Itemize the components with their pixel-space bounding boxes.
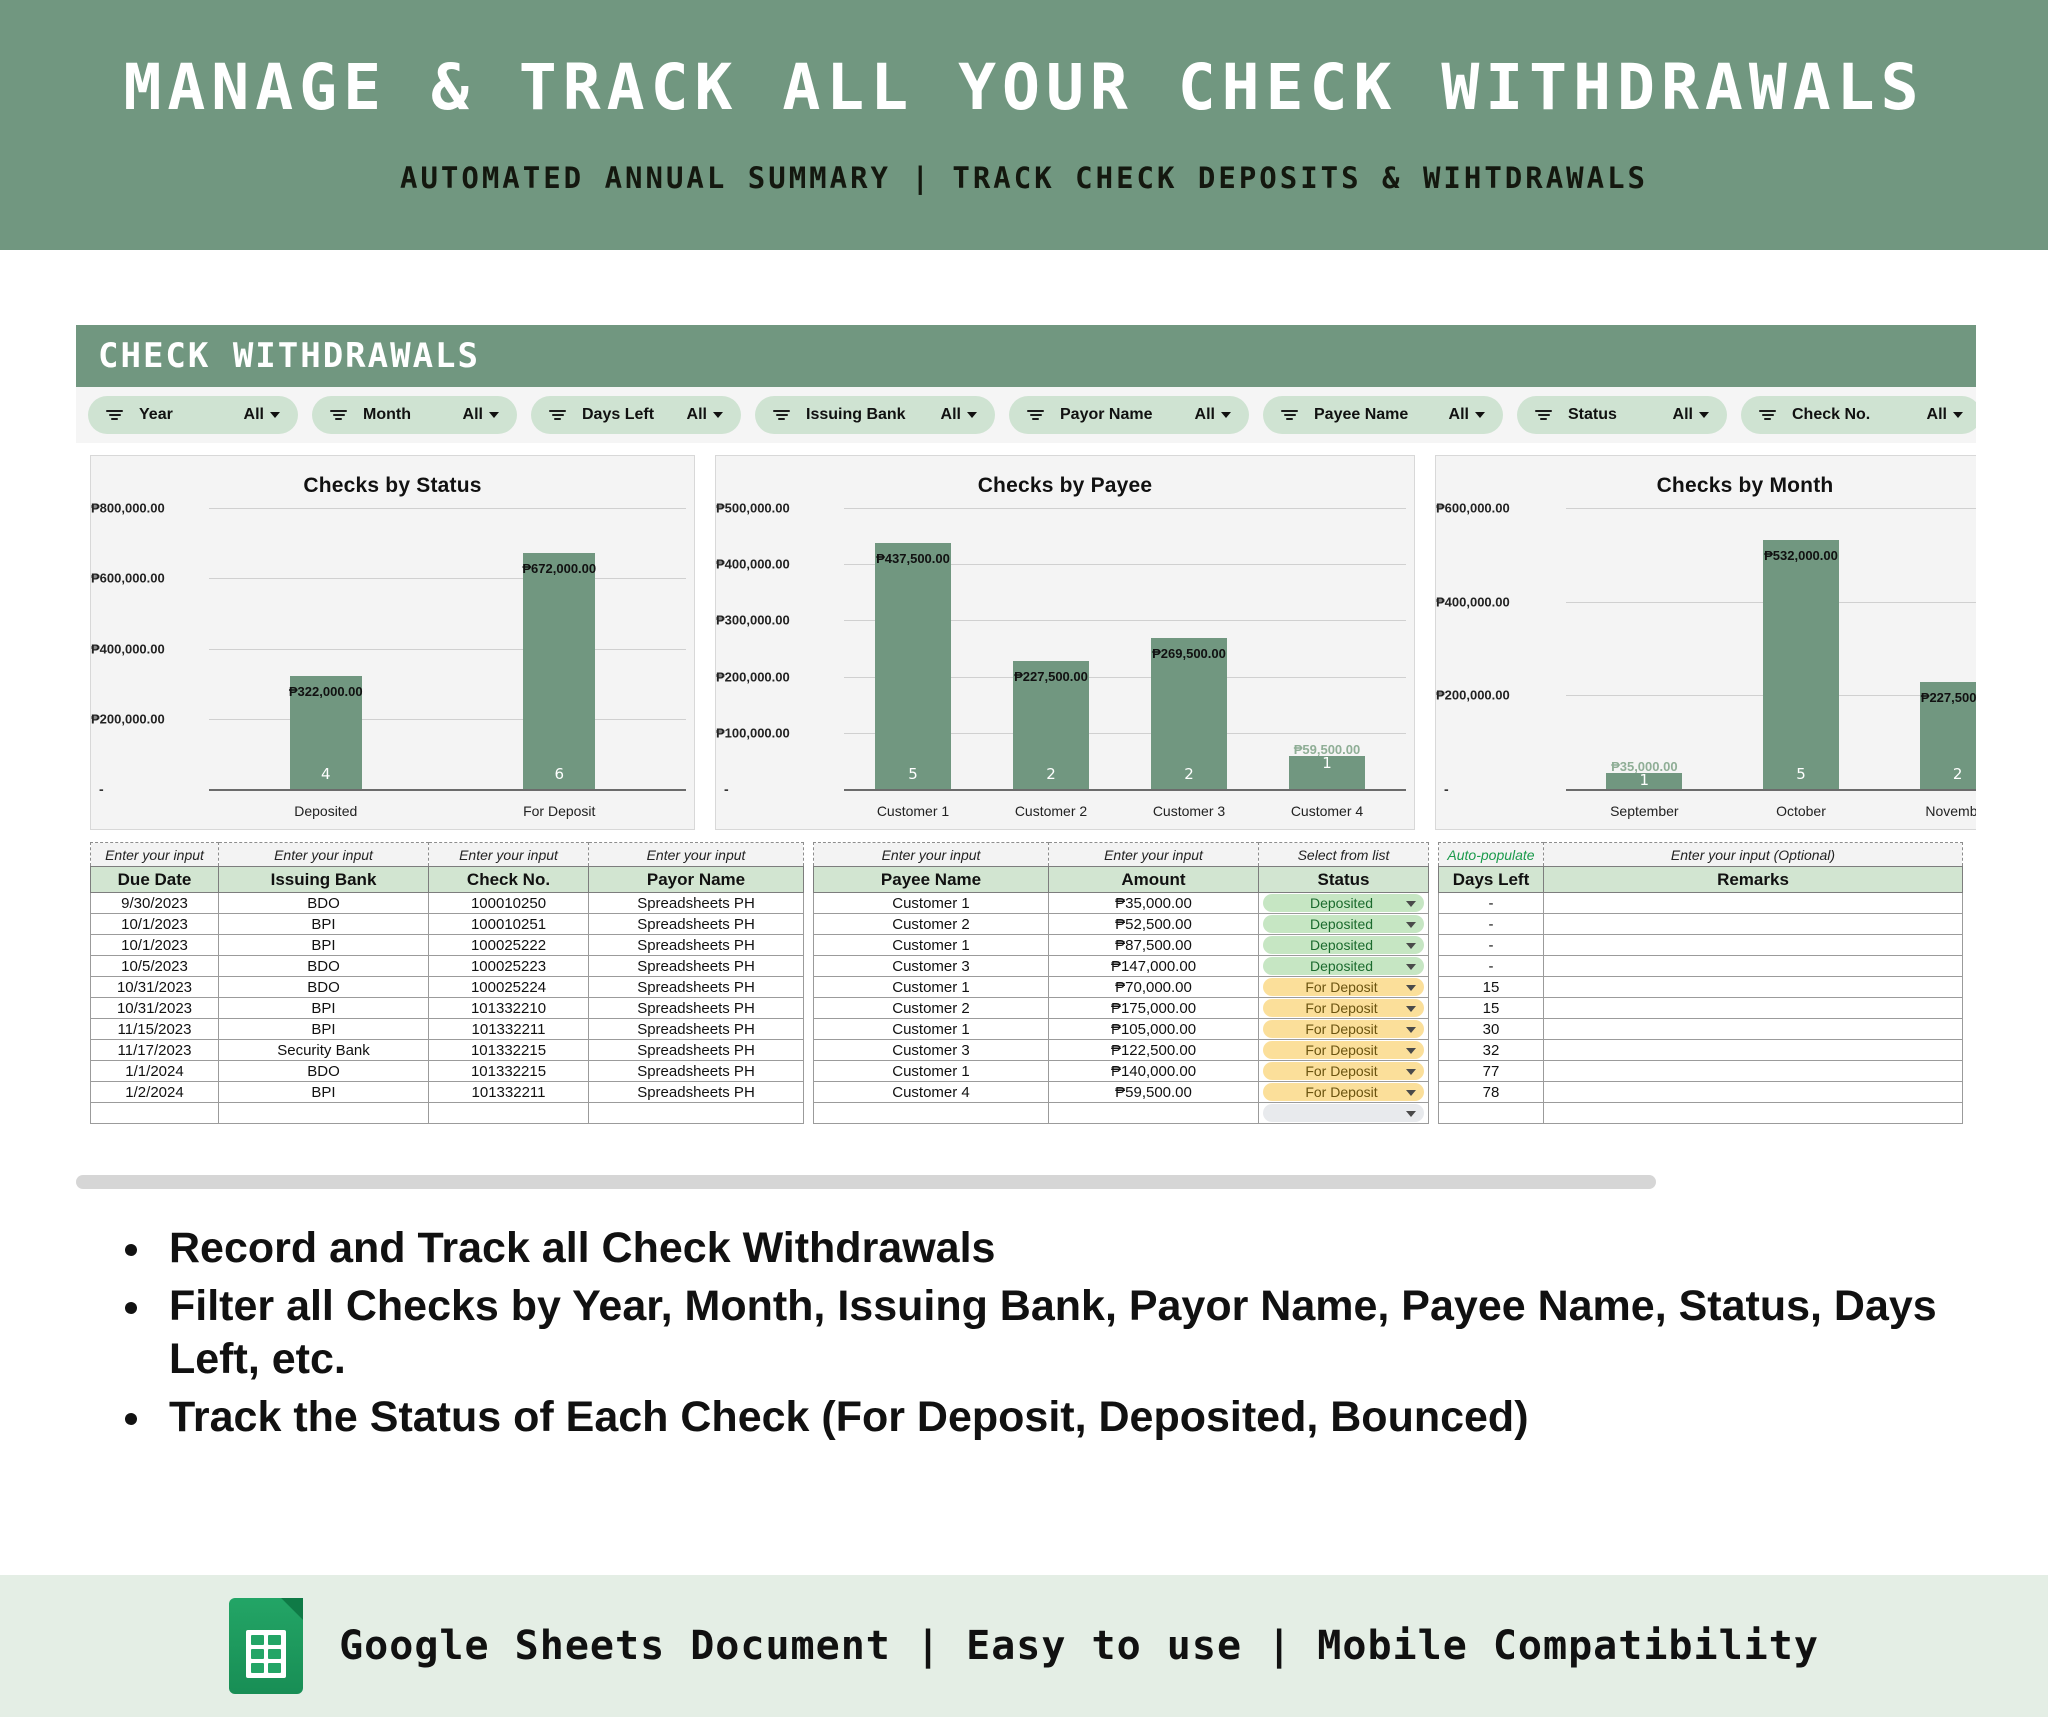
status-cell[interactable]: Deposited: [1259, 893, 1429, 914]
check-no-cell[interactable]: 100010251: [429, 914, 589, 935]
gridline: [1566, 508, 1976, 509]
table-row[interactable]: 10/31/2023BDO100025224Spreadsheets PHCus…: [91, 977, 1963, 998]
status-badge[interactable]: Deposited: [1263, 915, 1424, 933]
hint-days-left: Auto-populate: [1439, 843, 1544, 867]
due-date-cell[interactable]: 10/1/2023: [91, 914, 219, 935]
col-header-bank: Issuing Bank: [219, 867, 429, 893]
filter-value-payee-name[interactable]: All: [1449, 406, 1485, 424]
filter-icon: [1535, 410, 1552, 421]
status-badge[interactable]: [1263, 1104, 1424, 1122]
chevron-down-icon[interactable]: [1406, 901, 1416, 907]
filter-icon: [106, 410, 123, 421]
chart-checks-by-payee[interactable]: Checks by Payee ₱500,000.00₱400,000.00₱3…: [715, 455, 1415, 830]
issuing-bank-cell[interactable]: BDO: [219, 893, 429, 914]
chevron-down-icon[interactable]: [1406, 964, 1416, 970]
amount-cell[interactable]: ₱105,000.00: [1049, 1019, 1259, 1040]
chevron-down-icon[interactable]: [1406, 1090, 1416, 1096]
gridline: [844, 508, 1406, 509]
chevron-down-icon: [1221, 412, 1231, 418]
spacer-cell-2: [1429, 1061, 1439, 1082]
spreadsheet-card: CHECK WITHDRAWALS Year All Month All Day…: [76, 325, 1976, 1185]
issuing-bank-cell[interactable]: Security Bank: [219, 1040, 429, 1061]
issuing-bank-cell[interactable]: BPI: [219, 1082, 429, 1103]
payee-name-cell[interactable]: Customer 3: [814, 956, 1049, 977]
axis-baseline: [209, 789, 686, 791]
amount-cell[interactable]: ₱59,500.00: [1049, 1082, 1259, 1103]
payor-name-cell[interactable]: Spreadsheets PH: [589, 893, 804, 914]
bullet-dot-icon: [125, 1244, 137, 1256]
hint-payee: Enter your input: [814, 843, 1049, 867]
bar-value-label: ₱437,500.00: [876, 551, 950, 566]
filter-label-year: Year: [139, 406, 173, 424]
y-axis-tick: ₱600,000.00: [1436, 501, 1510, 516]
payor-name-cell[interactable]: Spreadsheets PH: [589, 956, 804, 977]
promo-title: MANAGE & TRACK ALL YOUR CHECK WITHDRAWAL…: [123, 56, 1924, 119]
filter-icon: [1281, 410, 1298, 421]
days-left-cell[interactable]: 15: [1439, 998, 1544, 1019]
spacer-cell: [804, 1103, 814, 1124]
filter-value-month[interactable]: All: [463, 406, 499, 424]
remarks-cell[interactable]: [1544, 935, 1963, 956]
y-axis-tick: -: [1444, 781, 1449, 797]
filter-value-text-year: All: [244, 406, 264, 424]
payor-name-cell[interactable]: Spreadsheets PH: [589, 1019, 804, 1040]
filter-chip-days-left[interactable]: Days Left All: [531, 396, 741, 434]
filter-label-check-no: Check No.: [1792, 406, 1870, 424]
filter-icon: [1027, 410, 1044, 421]
filter-value-issuing-bank[interactable]: All: [941, 406, 977, 424]
status-badge[interactable]: For Deposit: [1263, 1083, 1424, 1101]
table-row[interactable]: 10/1/2023BPI100025222Spreadsheets PHCust…: [91, 935, 1963, 956]
issuing-bank-cell[interactable]: BPI: [219, 935, 429, 956]
chart-title-status: Checks by Status: [91, 456, 694, 498]
filter-value-text-issuing-bank: All: [941, 406, 961, 424]
filter-chip-status[interactable]: Status All: [1517, 396, 1727, 434]
col-header-status: Status: [1259, 867, 1429, 893]
chevron-down-icon: [1953, 412, 1963, 418]
due-date-cell[interactable]: 10/31/2023: [91, 998, 219, 1019]
amount-cell[interactable]: [1049, 1103, 1259, 1124]
filter-chip-payee-name[interactable]: Payee Name All: [1263, 396, 1503, 434]
table-row[interactable]: 11/15/2023BPI101332211Spreadsheets PHCus…: [91, 1019, 1963, 1040]
issuing-bank-cell[interactable]: BDO: [219, 1061, 429, 1082]
remarks-cell[interactable]: [1544, 1019, 1963, 1040]
chevron-down-icon: [1475, 412, 1485, 418]
chevron-down-icon[interactable]: [1406, 985, 1416, 991]
chart-checks-by-status[interactable]: Checks by Status ₱800,000.00₱600,000.00₱…: [90, 455, 695, 830]
payor-name-cell[interactable]: Spreadsheets PH: [589, 1040, 804, 1061]
chart-plot-month: ₱600,000.00₱400,000.00₱200,000.00-₱35,00…: [1436, 508, 1976, 789]
bar-count-label: 2: [1184, 765, 1194, 783]
table-row[interactable]: 1/2/2024BPI101332211Spreadsheets PHCusto…: [91, 1082, 1963, 1103]
remarks-cell[interactable]: [1544, 1061, 1963, 1082]
filter-value-payor-name[interactable]: All: [1195, 406, 1231, 424]
days-left-cell[interactable]: -: [1439, 935, 1544, 956]
payor-name-cell[interactable]: Spreadsheets PH: [589, 1082, 804, 1103]
hint-payor: Enter your input: [589, 843, 804, 867]
remarks-cell[interactable]: [1544, 1082, 1963, 1103]
check-no-cell[interactable]: 100010250: [429, 893, 589, 914]
due-date-cell[interactable]: 1/2/2024: [91, 1082, 219, 1103]
y-axis-tick: ₱500,000.00: [716, 501, 790, 516]
filter-icon: [1759, 410, 1776, 421]
y-axis-tick: ₱200,000.00: [1436, 688, 1510, 703]
payor-name-cell[interactable]: Spreadsheets PH: [589, 998, 804, 1019]
chevron-down-icon[interactable]: [1406, 1048, 1416, 1054]
chart-checks-by-month[interactable]: Checks by Month ₱600,000.00₱400,000.00₱2…: [1435, 455, 1976, 830]
days-left-cell[interactable]: [1439, 1103, 1544, 1124]
x-axis-tick: November: [1879, 803, 1976, 819]
col-header-spacer: [804, 867, 814, 893]
status-cell[interactable]: For Deposit: [1259, 1061, 1429, 1082]
days-left-cell[interactable]: -: [1439, 914, 1544, 935]
spacer-cell: [804, 893, 814, 914]
days-left-cell[interactable]: 30: [1439, 1019, 1544, 1040]
table-row[interactable]: 11/17/2023Security Bank101332215Spreadsh…: [91, 1040, 1963, 1061]
payee-name-cell[interactable]: Customer 1: [814, 1019, 1049, 1040]
spacer-cell: [804, 914, 814, 935]
promo-banner: MANAGE & TRACK ALL YOUR CHECK WITHDRAWAL…: [0, 0, 2048, 250]
payee-name-cell[interactable]: Customer 2: [814, 914, 1049, 935]
due-date-cell[interactable]: [91, 1103, 219, 1124]
table-body: 9/30/2023BDO100010250Spreadsheets PHCust…: [91, 893, 1963, 1124]
promo-subtitle: AUTOMATED ANNUAL SUMMARY | TRACK CHECK D…: [400, 161, 1648, 195]
spacer-cell-2: [1429, 914, 1439, 935]
check-no-cell[interactable]: 101332211: [429, 1082, 589, 1103]
check-no-cell[interactable]: [429, 1103, 589, 1124]
remarks-cell[interactable]: [1544, 956, 1963, 977]
bar-count-label: 5: [908, 765, 918, 783]
data-table-wrap: Enter your input Enter your input Enter …: [76, 830, 1976, 1124]
remarks-cell[interactable]: [1544, 1040, 1963, 1061]
status-cell[interactable]: Deposited: [1259, 914, 1429, 935]
col-header-payor: Payor Name: [589, 867, 804, 893]
bullet-text-1: Record and Track all Check Withdrawals: [169, 1222, 995, 1274]
status-cell[interactable]: For Deposit: [1259, 1040, 1429, 1061]
hint-status: Select from list: [1259, 843, 1429, 867]
sheet-title: CHECK WITHDRAWALS: [98, 336, 480, 376]
filter-chip-year[interactable]: Year All: [88, 396, 298, 434]
chart-plot-payee: ₱500,000.00₱400,000.00₱300,000.00₱200,00…: [716, 508, 1404, 789]
bar-value-label: ₱227,500.00: [1014, 669, 1088, 684]
remarks-cell[interactable]: [1544, 914, 1963, 935]
chart-bar[interactable]: ₱672,000.006: [523, 553, 595, 789]
sheets-grid-glyph: [246, 1630, 286, 1678]
spreadsheet-screenshot: CHECK WITHDRAWALS Year All Month All Day…: [76, 325, 2044, 1189]
remarks-cell[interactable]: [1544, 998, 1963, 1019]
google-sheets-icon: [229, 1598, 303, 1694]
filter-value-text-status: All: [1673, 406, 1693, 424]
x-axis-tick: For Deposit: [443, 803, 677, 819]
footer-text: Google Sheets Document | Easy to use | M…: [339, 1623, 1819, 1669]
chart-bar[interactable]: ₱437,500.005: [875, 543, 951, 789]
status-badge[interactable]: For Deposit: [1263, 978, 1424, 996]
amount-cell[interactable]: ₱35,000.00: [1049, 893, 1259, 914]
feature-bullets: Record and Track all Check Withdrawals F…: [125, 1222, 1955, 1450]
spacer-cell: [804, 977, 814, 998]
footer-bar: Google Sheets Document | Easy to use | M…: [0, 1575, 2048, 1717]
x-axis-tick: Deposited: [209, 803, 443, 819]
filter-label-status: Status: [1568, 406, 1617, 424]
filter-value-text-days-left: All: [687, 406, 707, 424]
check-withdrawals-table: Enter your input Enter your input Enter …: [90, 842, 1963, 1124]
hint-remarks: Enter your input (Optional): [1544, 843, 1963, 867]
bar-count-label: 1: [1640, 771, 1650, 789]
chevron-down-icon[interactable]: [1406, 943, 1416, 949]
payee-name-cell[interactable]: Customer 4: [814, 1082, 1049, 1103]
due-date-cell[interactable]: 10/1/2023: [91, 935, 219, 956]
remarks-cell[interactable]: [1544, 893, 1963, 914]
status-cell[interactable]: For Deposit: [1259, 1019, 1429, 1040]
amount-cell[interactable]: ₱70,000.00: [1049, 977, 1259, 998]
bullet-dot-icon: [125, 1302, 137, 1314]
filter-bar: Year All Month All Days Left All Issuing…: [76, 387, 1976, 443]
table-row[interactable]: 10/31/2023BPI101332210Spreadsheets PHCus…: [91, 998, 1963, 1019]
spacer-cell-2: [1429, 1040, 1439, 1061]
status-cell[interactable]: [1259, 1103, 1429, 1124]
check-no-cell[interactable]: 101332210: [429, 998, 589, 1019]
status-badge[interactable]: Deposited: [1263, 894, 1424, 912]
chart-title-month: Checks by Month: [1436, 456, 1976, 498]
y-axis-tick: ₱600,000.00: [91, 571, 165, 586]
remarks-cell[interactable]: [1544, 1103, 1963, 1124]
amount-cell[interactable]: ₱175,000.00: [1049, 998, 1259, 1019]
status-cell[interactable]: For Deposit: [1259, 977, 1429, 998]
spacer-cell: [804, 1082, 814, 1103]
status-badge[interactable]: For Deposit: [1263, 1020, 1424, 1038]
payee-name-cell[interactable]: Customer 1: [814, 1061, 1049, 1082]
bar-count-label: 2: [1953, 765, 1963, 783]
payee-name-cell[interactable]: Customer 3: [814, 1040, 1049, 1061]
due-date-cell[interactable]: 1/1/2024: [91, 1061, 219, 1082]
bullet-text-2: Filter all Checks by Year, Month, Issuin…: [169, 1280, 1955, 1385]
due-date-cell[interactable]: 11/17/2023: [91, 1040, 219, 1061]
status-cell[interactable]: For Deposit: [1259, 998, 1429, 1019]
filter-chip-check-no[interactable]: Check No. All: [1741, 396, 1976, 434]
col-header-payee: Payee Name: [814, 867, 1049, 893]
sheet-titlebar: CHECK WITHDRAWALS: [76, 325, 1976, 387]
days-left-cell[interactable]: -: [1439, 893, 1544, 914]
axis-baseline: [1566, 789, 1976, 791]
chart-plot-status: ₱800,000.00₱600,000.00₱400,000.00₱200,00…: [91, 508, 684, 789]
y-axis-tick: -: [99, 781, 104, 797]
spacer-cell: [804, 1019, 814, 1040]
bar-value-label: ₱227,500.00: [1921, 690, 1976, 705]
x-axis-tick: Customer 2: [982, 803, 1120, 819]
check-no-cell[interactable]: 100025224: [429, 977, 589, 998]
bar-count-label: 6: [554, 765, 564, 783]
gridline: [209, 508, 686, 509]
table-row[interactable]: 10/1/2023BPI100010251Spreadsheets PHCust…: [91, 914, 1963, 935]
issuing-bank-cell[interactable]: BDO: [219, 977, 429, 998]
table-row[interactable]: [91, 1103, 1963, 1124]
due-date-cell[interactable]: 10/31/2023: [91, 977, 219, 998]
table-row[interactable]: 1/1/2024BDO101332215Spreadsheets PHCusto…: [91, 1061, 1963, 1082]
chart-bar[interactable]: ₱532,000.005: [1763, 540, 1839, 789]
status-badge[interactable]: For Deposit: [1263, 1062, 1424, 1080]
spacer-cell: [804, 1040, 814, 1061]
check-no-cell[interactable]: 101332211: [429, 1019, 589, 1040]
col-header-spacer-2: [1429, 867, 1439, 893]
payor-name-cell[interactable]: Spreadsheets PH: [589, 914, 804, 935]
x-axis-tick: October: [1723, 803, 1880, 819]
filter-value-text-payee-name: All: [1449, 406, 1469, 424]
filter-value-status[interactable]: All: [1673, 406, 1709, 424]
x-axis-tick: Customer 4: [1258, 803, 1396, 819]
bar-count-label: 1: [1322, 754, 1332, 772]
hint-due-date: Enter your input: [91, 843, 219, 867]
chart-bar[interactable]: ₱322,000.004: [290, 676, 362, 789]
spacer-cell-2: [1429, 1082, 1439, 1103]
charts-row: Checks by Status ₱800,000.00₱600,000.00₱…: [76, 443, 1976, 830]
table-row[interactable]: 10/5/2023BDO100025223Spreadsheets PHCust…: [91, 956, 1963, 977]
status-cell[interactable]: For Deposit: [1259, 1082, 1429, 1103]
due-date-cell[interactable]: 9/30/2023: [91, 893, 219, 914]
check-no-cell[interactable]: 100025222: [429, 935, 589, 956]
spacer-cell-2: [1429, 977, 1439, 998]
chevron-down-icon: [713, 412, 723, 418]
bar-value-label: ₱532,000.00: [1764, 548, 1838, 563]
filter-value-text-month: All: [463, 406, 483, 424]
chevron-down-icon[interactable]: [1406, 1111, 1416, 1117]
x-axis-tick: Customer 3: [1120, 803, 1258, 819]
bullet-item-2: Filter all Checks by Year, Month, Issuin…: [125, 1280, 1955, 1385]
payee-name-cell[interactable]: Customer 1: [814, 893, 1049, 914]
issuing-bank-cell[interactable]: BPI: [219, 914, 429, 935]
issuing-bank-cell[interactable]: BDO: [219, 956, 429, 977]
table-header-row: Due Date Issuing Bank Check No. Payor Na…: [91, 867, 1963, 893]
spacer-cell-2: [1429, 956, 1439, 977]
days-left-cell[interactable]: 77: [1439, 1061, 1544, 1082]
bullet-dot-icon: [125, 1413, 137, 1425]
bar-value-label: ₱322,000.00: [289, 684, 363, 699]
filter-value-year[interactable]: All: [244, 406, 280, 424]
days-left-cell[interactable]: 15: [1439, 977, 1544, 998]
payee-name-cell[interactable]: [814, 1103, 1049, 1124]
y-axis-tick: ₱200,000.00: [716, 669, 790, 684]
filter-icon: [330, 410, 347, 421]
axis-baseline: [844, 789, 1406, 791]
filter-value-check-no[interactable]: All: [1927, 406, 1963, 424]
payor-name-cell[interactable]: Spreadsheets PH: [589, 1061, 804, 1082]
filter-value-text-payor-name: All: [1195, 406, 1215, 424]
col-header-amount: Amount: [1049, 867, 1259, 893]
bar-value-label: ₱672,000.00: [522, 561, 596, 576]
chart-bar[interactable]: ₱269,500.002: [1151, 638, 1227, 789]
y-axis-tick: ₱400,000.00: [1436, 594, 1510, 609]
filter-chip-payor-name[interactable]: Payor Name All: [1009, 396, 1249, 434]
days-left-cell[interactable]: 78: [1439, 1082, 1544, 1103]
filter-chip-month[interactable]: Month All: [312, 396, 517, 434]
gridline: [209, 719, 686, 720]
spacer-cell: [804, 935, 814, 956]
col-header-check-no: Check No.: [429, 867, 589, 893]
chart-bar[interactable]: ₱59,500.001: [1289, 756, 1365, 789]
payee-name-cell[interactable]: Customer 2: [814, 998, 1049, 1019]
filter-label-days-left: Days Left: [582, 406, 654, 424]
due-date-cell[interactable]: 11/15/2023: [91, 1019, 219, 1040]
y-axis-tick: ₱400,000.00: [91, 641, 165, 656]
check-no-cell[interactable]: 101332215: [429, 1040, 589, 1061]
table-row[interactable]: 9/30/2023BDO100010250Spreadsheets PHCust…: [91, 893, 1963, 914]
chart-bar[interactable]: ₱227,500.002: [1920, 682, 1976, 789]
payee-name-cell[interactable]: Customer 1: [814, 977, 1049, 998]
status-cell[interactable]: Deposited: [1259, 935, 1429, 956]
filter-chip-issuing-bank[interactable]: Issuing Bank All: [755, 396, 995, 434]
remarks-cell[interactable]: [1544, 977, 1963, 998]
chart-bar[interactable]: ₱35,000.001: [1606, 773, 1682, 789]
col-header-remarks: Remarks: [1544, 867, 1963, 893]
bar-count-label: 2: [1046, 765, 1056, 783]
spacer-cell: [804, 956, 814, 977]
payor-name-cell[interactable]: Spreadsheets PH: [589, 935, 804, 956]
bar-count-label: 4: [321, 765, 331, 783]
check-no-cell[interactable]: 101332215: [429, 1061, 589, 1082]
check-no-cell[interactable]: 100025223: [429, 956, 589, 977]
days-left-cell[interactable]: 32: [1439, 1040, 1544, 1061]
spacer-cell: [804, 1061, 814, 1082]
bullet-item-3: Track the Status of Each Check (For Depo…: [125, 1391, 1955, 1443]
table-hint-row: Enter your input Enter your input Enter …: [91, 843, 1963, 867]
chevron-down-icon[interactable]: [1406, 1069, 1416, 1075]
hint-bank: Enter your input: [219, 843, 429, 867]
spacer-cell-2: [1429, 1103, 1439, 1124]
issuing-bank-cell[interactable]: BPI: [219, 1019, 429, 1040]
filter-icon: [773, 410, 790, 421]
chevron-down-icon: [270, 412, 280, 418]
status-badge[interactable]: Deposited: [1263, 957, 1424, 975]
chart-bar[interactable]: ₱227,500.002: [1013, 661, 1089, 789]
payor-name-cell[interactable]: Spreadsheets PH: [589, 977, 804, 998]
y-axis-tick: ₱400,000.00: [716, 557, 790, 572]
issuing-bank-cell[interactable]: [219, 1103, 429, 1124]
spacer-cell: [804, 998, 814, 1019]
chevron-down-icon[interactable]: [1406, 922, 1416, 928]
col-header-due-date: Due Date: [91, 867, 219, 893]
status-badge[interactable]: For Deposit: [1263, 1041, 1424, 1059]
filter-icon: [549, 410, 566, 421]
hint-amount: Enter your input: [1049, 843, 1259, 867]
chart-title-payee: Checks by Payee: [716, 456, 1414, 498]
status-badge[interactable]: Deposited: [1263, 936, 1424, 954]
amount-cell[interactable]: ₱52,500.00: [1049, 914, 1259, 935]
issuing-bank-cell[interactable]: BPI: [219, 998, 429, 1019]
y-axis-tick: ₱800,000.00: [91, 501, 165, 516]
amount-cell[interactable]: ₱122,500.00: [1049, 1040, 1259, 1061]
x-axis-tick: September: [1566, 803, 1723, 819]
filter-label-month: Month: [363, 406, 411, 424]
days-left-cell[interactable]: -: [1439, 956, 1544, 977]
chevron-down-icon: [967, 412, 977, 418]
amount-cell[interactable]: ₱140,000.00: [1049, 1061, 1259, 1082]
spacer-cell-2: [1429, 935, 1439, 956]
amount-cell[interactable]: ₱147,000.00: [1049, 956, 1259, 977]
status-cell[interactable]: Deposited: [1259, 956, 1429, 977]
status-badge[interactable]: For Deposit: [1263, 999, 1424, 1017]
gridline: [209, 578, 686, 579]
chevron-down-icon: [489, 412, 499, 418]
payor-name-cell[interactable]: [589, 1103, 804, 1124]
filter-value-days-left[interactable]: All: [687, 406, 723, 424]
chevron-down-icon[interactable]: [1406, 1027, 1416, 1033]
amount-cell[interactable]: ₱87,500.00: [1049, 935, 1259, 956]
hint-spacer: [804, 843, 814, 867]
y-axis-tick: ₱300,000.00: [716, 613, 790, 628]
chevron-down-icon[interactable]: [1406, 1006, 1416, 1012]
spacer-cell-2: [1429, 893, 1439, 914]
payee-name-cell[interactable]: Customer 1: [814, 935, 1049, 956]
due-date-cell[interactable]: 10/5/2023: [91, 956, 219, 977]
